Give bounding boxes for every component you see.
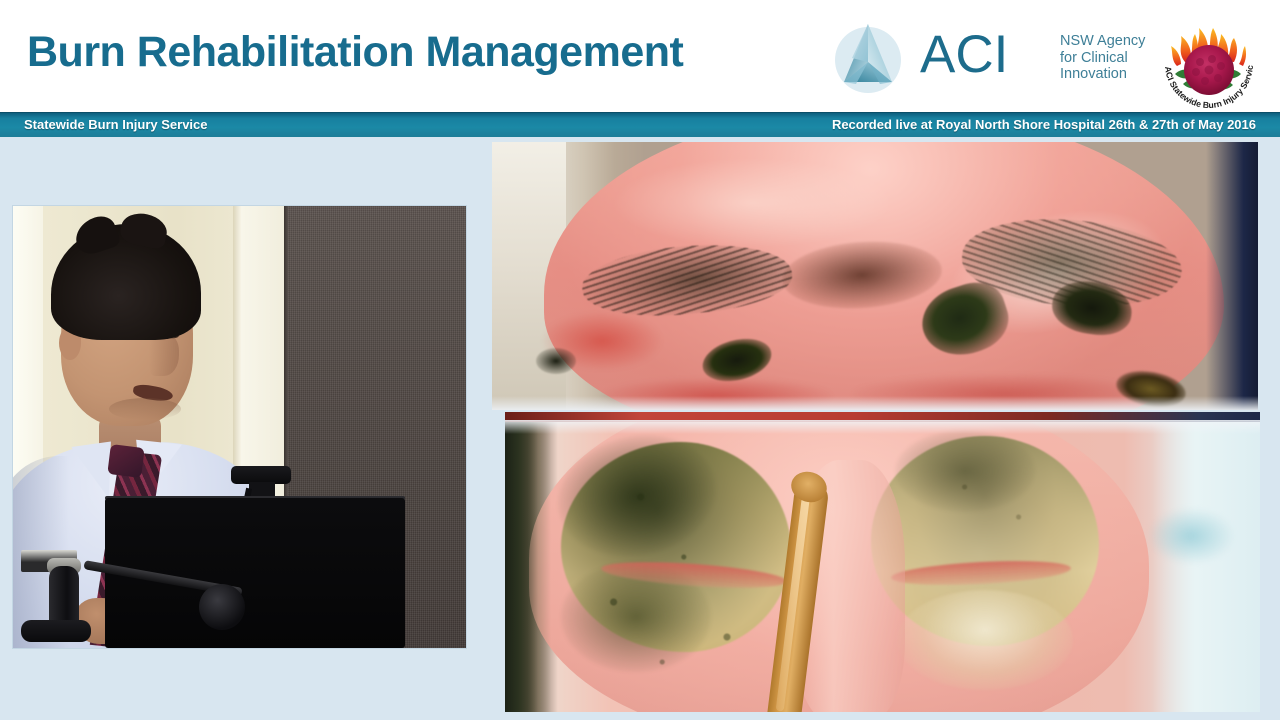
slide-header: Burn Rehabilitation Management <box>0 0 1280 112</box>
presenter-chin-shadow <box>109 398 181 420</box>
surgical-drape <box>1152 412 1260 720</box>
photo-top-fade <box>505 420 1260 434</box>
dark-background-corner <box>1206 142 1258 410</box>
aci-trillium-mark-icon <box>822 18 914 98</box>
banner-left-text: Statewide Burn Injury Service <box>24 117 208 132</box>
drape-blue-shadow <box>1148 508 1234 564</box>
aci-tagline-line-3: Innovation <box>1060 66 1145 83</box>
skin-highlight-upper <box>612 158 892 248</box>
photo-bottom-fade <box>492 396 1258 410</box>
info-banner: Statewide Burn Injury Service Recorded l… <box>0 112 1280 137</box>
aci-tagline: NSW Agency for Clinical Innovation <box>1060 33 1145 83</box>
slide-root: Burn Rehabilitation Management <box>0 0 1280 720</box>
monitor-hinge <box>199 584 245 630</box>
page-title: Burn Rehabilitation Management <box>27 28 683 77</box>
presenter-nose <box>149 334 179 376</box>
microphone-base <box>21 620 91 642</box>
statewide-burn-injury-service-logo-icon: ACI Statewide Burn Injury Service <box>1155 8 1263 108</box>
clinical-photo-eyelid-burn <box>505 412 1260 720</box>
clinical-photo-forehead-burn <box>492 142 1258 410</box>
banner-right-text: Recorded live at Royal North Shore Hospi… <box>832 117 1256 132</box>
presenter-tie-knot <box>107 444 144 478</box>
photo-left-dark-edge <box>505 412 551 720</box>
aci-wordmark: ACI <box>920 28 1008 81</box>
aci-logo: ACI NSW Agency for Clinical Innovation <box>822 16 1112 100</box>
eschar-patch-d <box>536 348 576 374</box>
presenter-video-panel[interactable] <box>13 206 466 648</box>
bottom-background-strip <box>0 712 1280 720</box>
aci-tagline-line-2: for Clinical <box>1060 50 1145 67</box>
aci-tagline-line-1: NSW Agency <box>1060 33 1145 50</box>
